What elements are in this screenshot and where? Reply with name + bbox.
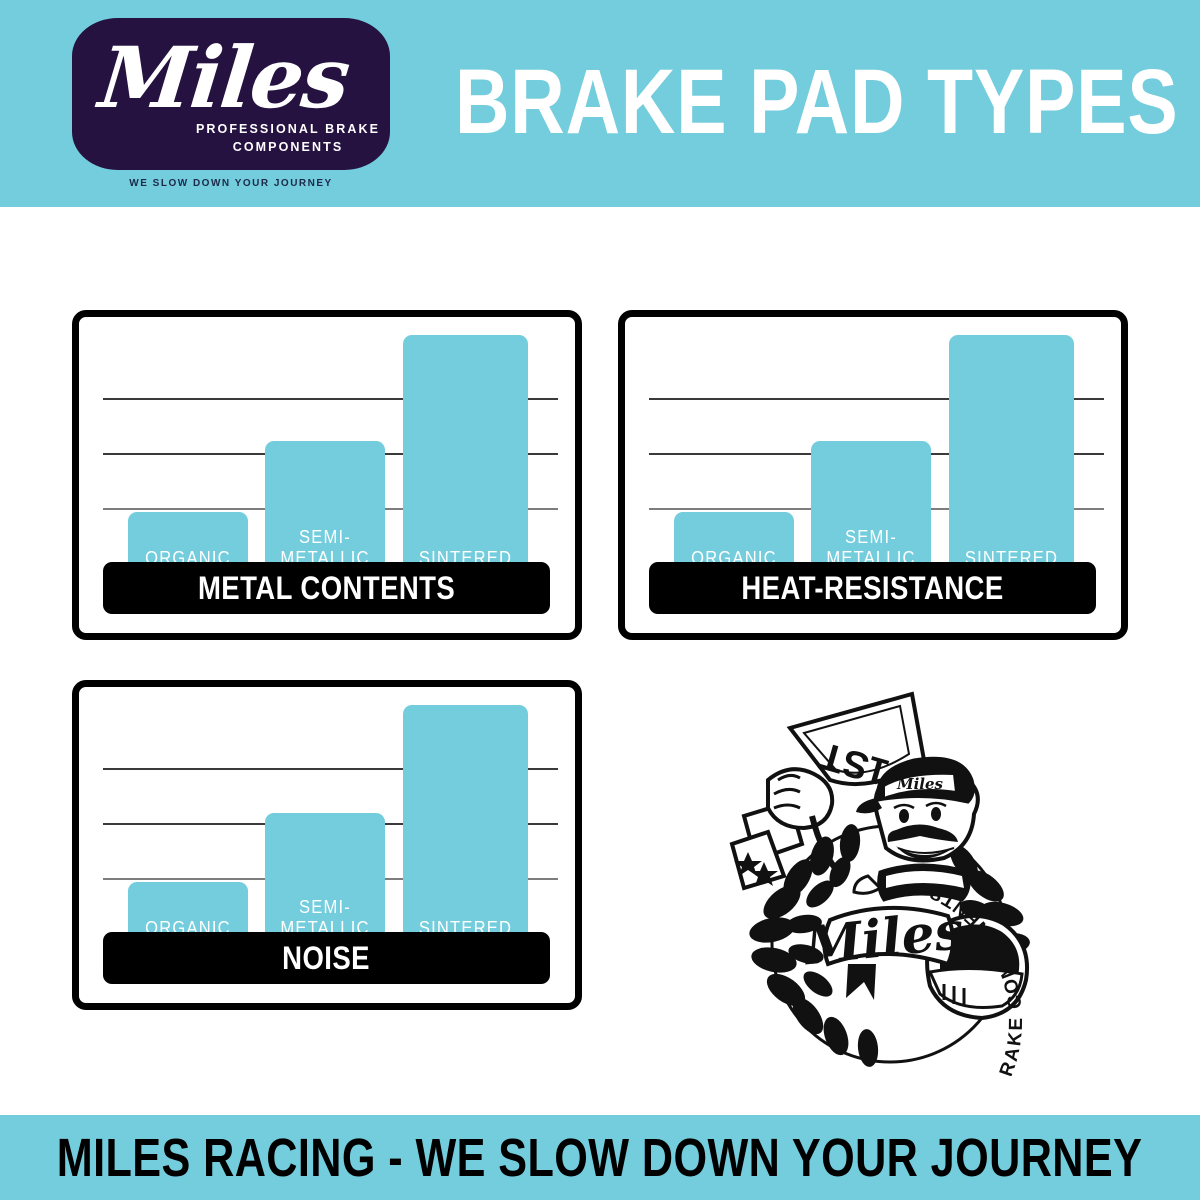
mascot-emblem: 1ST [672,676,1076,1076]
bar-sintered: SINTERED [403,705,528,947]
chart-title-noise: NOISE [283,940,371,977]
chart-title-metal: METAL CONTENTS [198,570,455,607]
logo-wordmark: Miles [76,23,388,133]
logo-tagline: WE SLOW DOWN YOUR JOURNEY [72,178,390,189]
mascot-illustration-icon: 1ST [672,676,1076,1076]
page-title: BRAKE PAD TYPES [455,48,1029,156]
chart-card-noise: ORGANIC SEMI- METALLIC SINTERED NOISE [72,680,582,1010]
infographic-page: Miles PROFESSIONAL BRAKE COMPONENTS WE S… [0,0,1200,1200]
chart-plot-area-noise: ORGANIC SEMI- METALLIC SINTERED NOISE [79,687,575,1003]
brand-logo: Miles PROFESSIONAL BRAKE COMPONENTS WE S… [72,18,390,200]
logo-subtitle-line2: COMPONENTS [190,140,386,154]
footer-tagline: MILES RACING - WE SLOW DOWN YOUR JOURNEY [57,1127,1143,1189]
bar-label-semi-metallic-line1: SEMI- [270,527,380,548]
chart-card-heat-resistance: ORGANIC SEMI- METALLIC SINTERED HEAT-RES… [618,310,1128,640]
chart-plot-area-heat: ORGANIC SEMI- METALLIC SINTERED HEAT-RES… [625,317,1121,633]
chart-title-heat: HEAT-RESISTANCE [741,570,1003,607]
footer-banner: MILES RACING - WE SLOW DOWN YOUR JOURNEY [0,1115,1200,1200]
bar-sintered: SINTERED [403,335,528,577]
bar-label-semi-metallic-line1: SEMI- [270,897,380,918]
footer-tagline-wrap: MILES RACING - WE SLOW DOWN YOUR JOURNEY [0,1115,1200,1200]
chart-title-banner-metal: METAL CONTENTS [103,562,550,614]
logo-subtitle-line1: PROFESSIONAL BRAKE [190,122,386,136]
chart-plot-area-metal: ORGANIC SEMI- METALLIC SINTERED METAL CO… [79,317,575,633]
header-banner: Miles PROFESSIONAL BRAKE COMPONENTS WE S… [0,0,1200,207]
bar-sintered: SINTERED [949,335,1074,577]
bar-semi-metallic: SEMI- METALLIC [265,441,385,577]
chart-title-banner-heat: HEAT-RESISTANCE [649,562,1096,614]
svg-text:Miles: Miles [896,775,944,793]
bar-semi-metallic: SEMI- METALLIC [811,441,931,577]
chart-card-metal-contents: ORGANIC SEMI- METALLIC SINTERED METAL CO… [72,310,582,640]
chart-title-banner-noise: NOISE [103,932,550,984]
bar-label-semi-metallic-line1: SEMI- [816,527,926,548]
bar-semi-metallic: SEMI- METALLIC [265,813,385,947]
